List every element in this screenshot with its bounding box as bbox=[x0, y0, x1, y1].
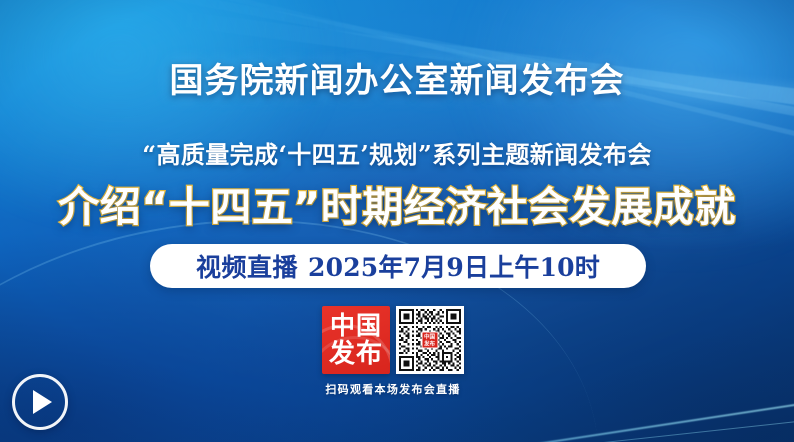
headline-topic: 介绍“十四五”时期经济社会发展成就 bbox=[0, 182, 794, 232]
live-badge-label: 视频直播 bbox=[196, 248, 298, 284]
play-button[interactable] bbox=[12, 374, 68, 430]
poster-content: 国务院新闻办公室新闻发布会 “高质量完成‘十四五’规划”系列主题新闻发布会 介绍… bbox=[0, 0, 794, 442]
qr-caption: 扫码观看本场发布会直播 bbox=[325, 381, 460, 397]
logo-line-1: 中国 bbox=[330, 312, 382, 340]
qr-code[interactable]: 中国 发布 bbox=[396, 306, 464, 374]
qr-center-line-2: 发布 bbox=[424, 340, 435, 346]
qr-center-line-1: 中国 bbox=[424, 333, 435, 339]
live-broadcast-badge[interactable]: 视频直播 2025年7月9日上午10时 bbox=[150, 244, 646, 288]
live-badge-datetime: 2025年7月9日上午10时 bbox=[308, 248, 600, 284]
series-subtitle: “高质量完成‘十四五’规划”系列主题新闻发布会 bbox=[0, 139, 794, 171]
china-release-logo: 中国 发布 bbox=[322, 306, 390, 374]
page-title: 国务院新闻办公室新闻发布会 bbox=[0, 60, 794, 102]
play-icon bbox=[33, 390, 52, 414]
qr-section: 中国 发布 bbox=[322, 306, 464, 397]
qr-row: 中国 发布 bbox=[322, 306, 464, 374]
logo-line-2: 发布 bbox=[329, 340, 383, 368]
qr-center-logo: 中国 发布 bbox=[422, 332, 439, 349]
press-conference-poster: 国务院新闻办公室新闻发布会 “高质量完成‘十四五’规划”系列主题新闻发布会 介绍… bbox=[0, 0, 794, 442]
